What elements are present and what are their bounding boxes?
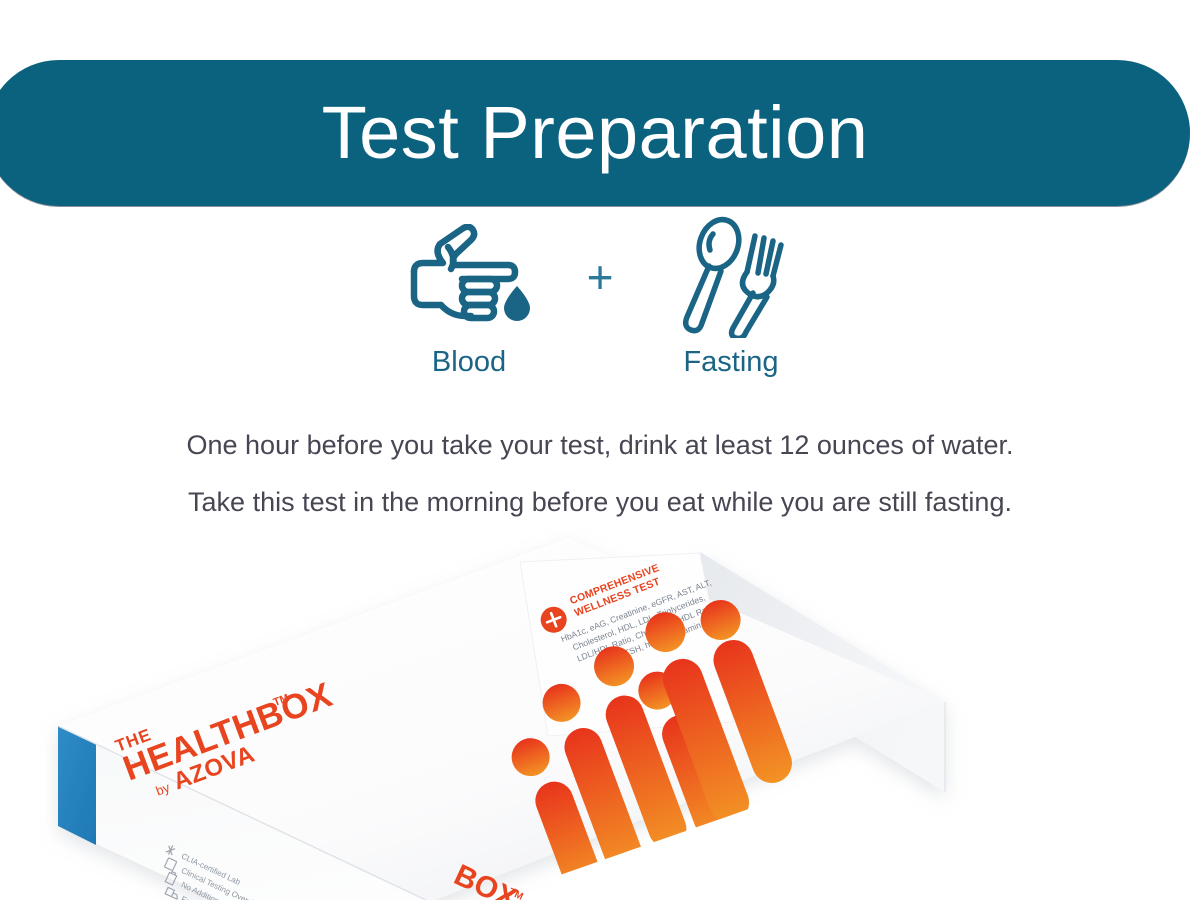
- instructions-block: One hour before you take your test, drin…: [0, 432, 1200, 546]
- test-prep-icon-row: Blood +: [0, 212, 1200, 377]
- prep-separator-plus: +: [564, 212, 636, 342]
- page-header-banner: Test Preparation: [0, 60, 1190, 206]
- instruction-line-1: One hour before you take your test, drin…: [0, 432, 1200, 459]
- box-blue-stripe: [58, 726, 96, 845]
- prep-item-blood: Blood: [374, 212, 564, 377]
- page-title: Test Preparation: [308, 96, 869, 170]
- instruction-line-2: Take this test in the morning before you…: [0, 489, 1200, 516]
- product-box-photo: THE HEALTHBOX TM by AZOVA COMPREHENSIVE …: [0, 530, 1200, 900]
- prep-label-blood: Blood: [432, 348, 506, 377]
- prep-item-fasting: Fasting: [636, 212, 826, 377]
- product-box-body: [58, 538, 945, 900]
- blood-droplet-shape: [504, 286, 530, 321]
- spoon-fork-icon: [675, 212, 787, 342]
- blood-drop-finger-icon: [404, 212, 534, 342]
- shipping-truck-icon: [165, 887, 180, 899]
- prep-label-fasting: Fasting: [683, 348, 778, 377]
